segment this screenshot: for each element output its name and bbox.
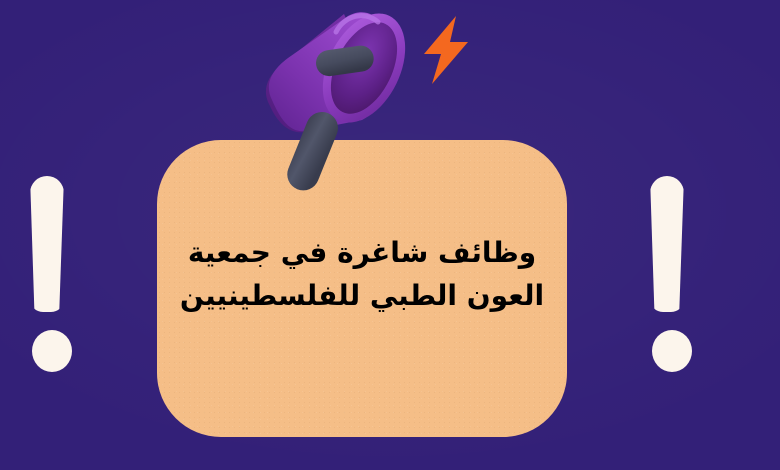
exclamation-dot — [652, 330, 692, 372]
exclamation-bar — [650, 176, 684, 312]
exclamation-dot — [32, 330, 72, 372]
megaphone-icon — [252, 0, 432, 196]
exclamation-mark-icon-left — [28, 176, 74, 376]
poster-canvas: وظائف شاغرة في جمعية العون الطبي للفلسطي… — [0, 0, 780, 470]
headline-line-2: العون الطبي للفلسطينيين — [179, 275, 545, 318]
exclamation-bar — [30, 176, 64, 312]
headline-text: وظائف شاغرة في جمعية العون الطبي للفلسطي… — [157, 232, 567, 317]
headline-line-1: وظائف شاغرة في جمعية — [179, 232, 545, 275]
exclamation-mark-icon-right — [648, 176, 694, 376]
